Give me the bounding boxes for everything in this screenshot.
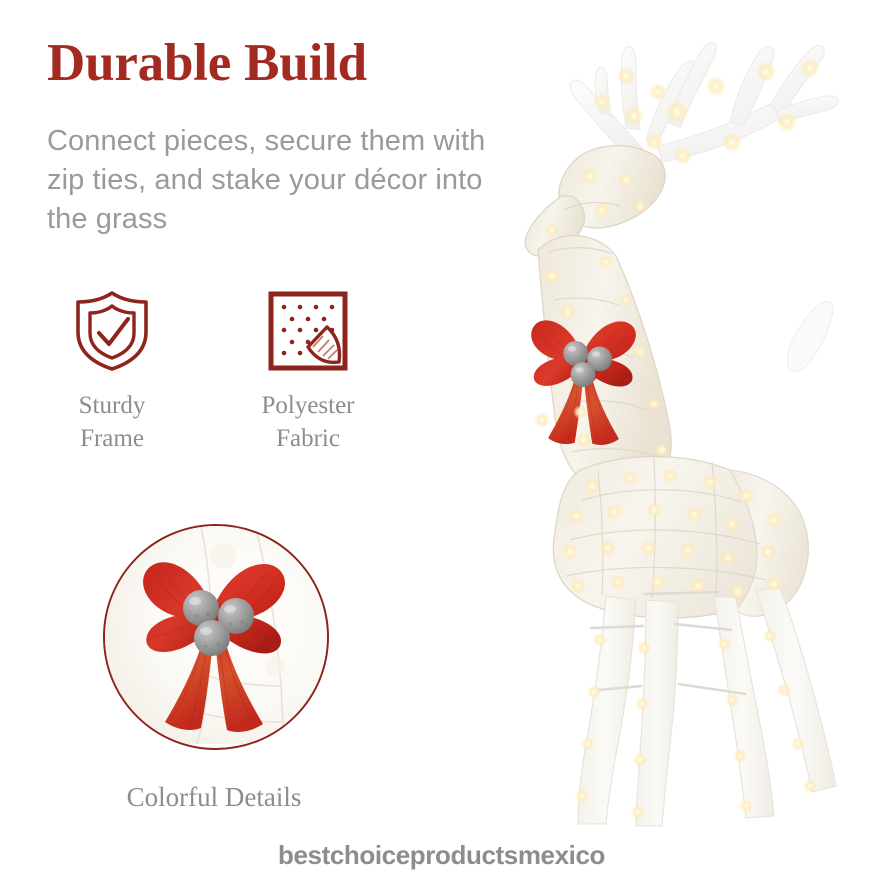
product-image-reindeer (430, 0, 883, 845)
fabric-swatch-icon (208, 286, 408, 372)
feature-polyester-fabric: Polyester Fabric (208, 286, 408, 455)
watermark-text: bestchoiceproductsmexico (0, 840, 883, 871)
feature-sturdy-frame: Sturdy Frame (12, 286, 212, 455)
detail-inset-caption: Colorful Details (14, 782, 414, 813)
detail-inset-circle (103, 524, 329, 750)
marketing-banner: Durable Build Connect pieces, secure the… (0, 0, 883, 883)
shield-check-icon (12, 286, 212, 372)
bow-closeup-photo (105, 526, 323, 744)
feature-label: Polyester Fabric (208, 389, 408, 455)
feature-label: Sturdy Frame (12, 389, 212, 455)
